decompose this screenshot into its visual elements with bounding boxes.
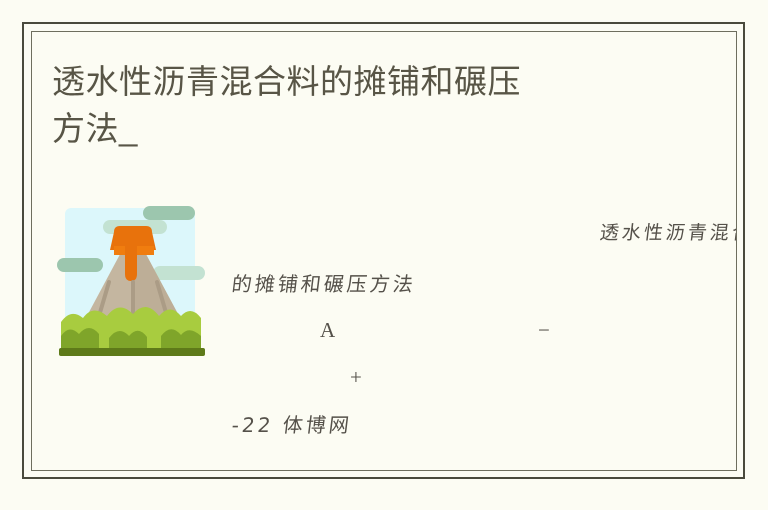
handwriting-main-line: 的摊铺和碾压方法 bbox=[230, 268, 418, 297]
minus-mark: − bbox=[538, 318, 550, 343]
volcano-illustration bbox=[57, 196, 209, 362]
letter-a-mark: A bbox=[320, 318, 335, 343]
page-root: 透水性沥青混合料的摊铺和碾压 方法_ bbox=[0, 0, 768, 510]
page-title: 透水性沥青混合料的摊铺和碾压 方法_ bbox=[52, 58, 652, 152]
plus-mark: + bbox=[350, 365, 362, 390]
page-title-line-2: 方法_ bbox=[52, 105, 652, 152]
handwriting-bottom-line: -22 体博网 bbox=[230, 409, 354, 438]
page-title-line-1: 透水性沥青混合料的摊铺和碾压 bbox=[52, 58, 652, 105]
